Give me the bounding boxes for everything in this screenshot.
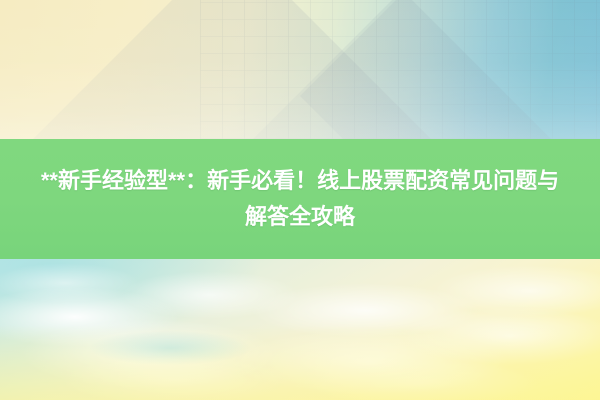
cloud-shape [430, 265, 600, 317]
top-band-vertical-shade [0, 0, 600, 139]
sky-yellow-tint [0, 325, 600, 400]
top-decorative-band [0, 0, 600, 139]
title-band: **新手经验型**：新手必看！线上股票配资常见问题与解答全攻略 [0, 139, 600, 259]
banner-title: **新手经验型**：新手必看！线上股票配资常见问题与解答全攻略 [30, 163, 570, 235]
sky-gradient-area [0, 259, 600, 400]
article-cover-banner: **新手经验型**：新手必看！线上股票配资常见问题与解答全攻略 [0, 0, 600, 400]
